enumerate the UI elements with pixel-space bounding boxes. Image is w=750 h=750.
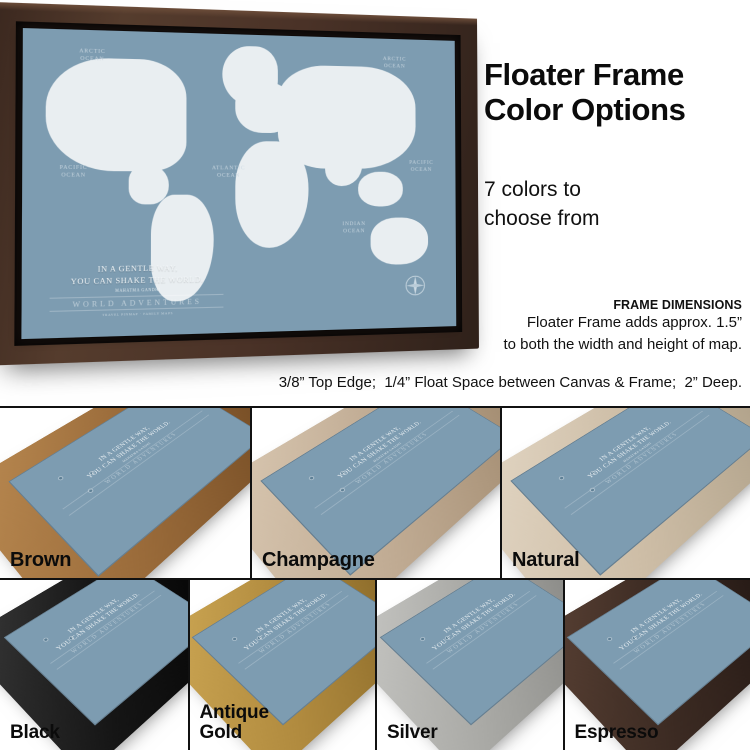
canvas-quote-block: In a Gentle Way, You Can Shake the World… <box>50 262 224 318</box>
page-title-line-1: Floater Frame <box>484 57 746 92</box>
hero-section: ARCTIC OCEAN ARCTIC OCEAN PACIFIC OCEAN … <box>0 0 750 405</box>
swatch-label: Antique Gold <box>200 703 269 743</box>
swatch-black[interactable]: In a Gentle Way, You Can Shake the World… <box>0 580 188 750</box>
landmass-north-america <box>46 56 187 171</box>
ocean-label-pacific-east: PACIFIC OCEAN <box>391 160 451 174</box>
frame-dimensions-heading: FRAME DIMENSIONS <box>272 298 742 312</box>
swatch-label: Brown <box>10 550 71 571</box>
world-map-artwork: ARCTIC OCEAN ARCTIC OCEAN PACIFIC OCEAN … <box>21 28 456 339</box>
swatch-row-top: In a Gentle Way, You Can Shake the World… <box>0 406 750 578</box>
page-subtitle-line-1: 7 colors to <box>484 175 746 204</box>
ocean-label-arctic-east: ARCTIC OCEAN <box>362 55 427 71</box>
world-map-canvas: ARCTIC OCEAN ARCTIC OCEAN PACIFIC OCEAN … <box>21 28 456 339</box>
swatch-champagne[interactable]: In a Gentle Way, You Can Shake the World… <box>250 408 500 578</box>
swatch-label: Champagne <box>262 550 375 571</box>
page-subtitle-line-2: choose from <box>484 204 746 233</box>
swatch-row-bottom: In a Gentle Way, You Can Shake the World… <box>0 578 750 750</box>
ocean-label-atlantic: ATLANTIC OCEAN <box>191 165 265 180</box>
swatch-silver[interactable]: In a Gentle Way, You Can Shake the World… <box>375 580 563 750</box>
swatch-label: Black <box>10 723 60 743</box>
swatch-label: Espresso <box>575 723 659 743</box>
ocean-label-indian: INDIAN OCEAN <box>321 221 387 236</box>
swatch-natural[interactable]: In a Gentle Way, You Can Shake the World… <box>500 408 750 578</box>
frame-dimensions-line-3: 3/8” Top Edge; 1/4” Float Space between … <box>0 374 742 391</box>
page-title-line-2: Color Options <box>484 92 746 127</box>
swatch-brown[interactable]: In a Gentle Way, You Can Shake the World… <box>0 408 250 578</box>
quote-map-title: World Adventures <box>50 294 224 312</box>
compass-rose-icon <box>404 274 426 297</box>
swatch-label: Natural <box>512 550 580 571</box>
swatch-label: Silver <box>387 723 438 743</box>
ocean-label-pacific-west: PACIFIC OCEAN <box>36 164 110 179</box>
page-title: Floater Frame Color Options <box>484 57 746 127</box>
frame-dimensions-block: FRAME DIMENSIONS Floater Frame adds appr… <box>272 298 742 356</box>
frame-dimensions-line-2: to both the width and height of map. <box>272 334 742 356</box>
ocean-label-arctic-west: ARCTIC OCEAN <box>55 47 128 64</box>
page-subtitle: 7 colors to choose from <box>484 175 746 234</box>
landmass-southeast-asia <box>358 171 403 206</box>
swatch-espresso[interactable]: In a Gentle Way, You Can Shake the World… <box>563 580 750 750</box>
landmass-india <box>325 148 363 186</box>
swatch-antique-gold[interactable]: In a Gentle Way, You Can Shake the World… <box>188 580 376 750</box>
frame-dimensions-line-1: Floater Frame adds approx. 1.5” <box>272 312 742 334</box>
